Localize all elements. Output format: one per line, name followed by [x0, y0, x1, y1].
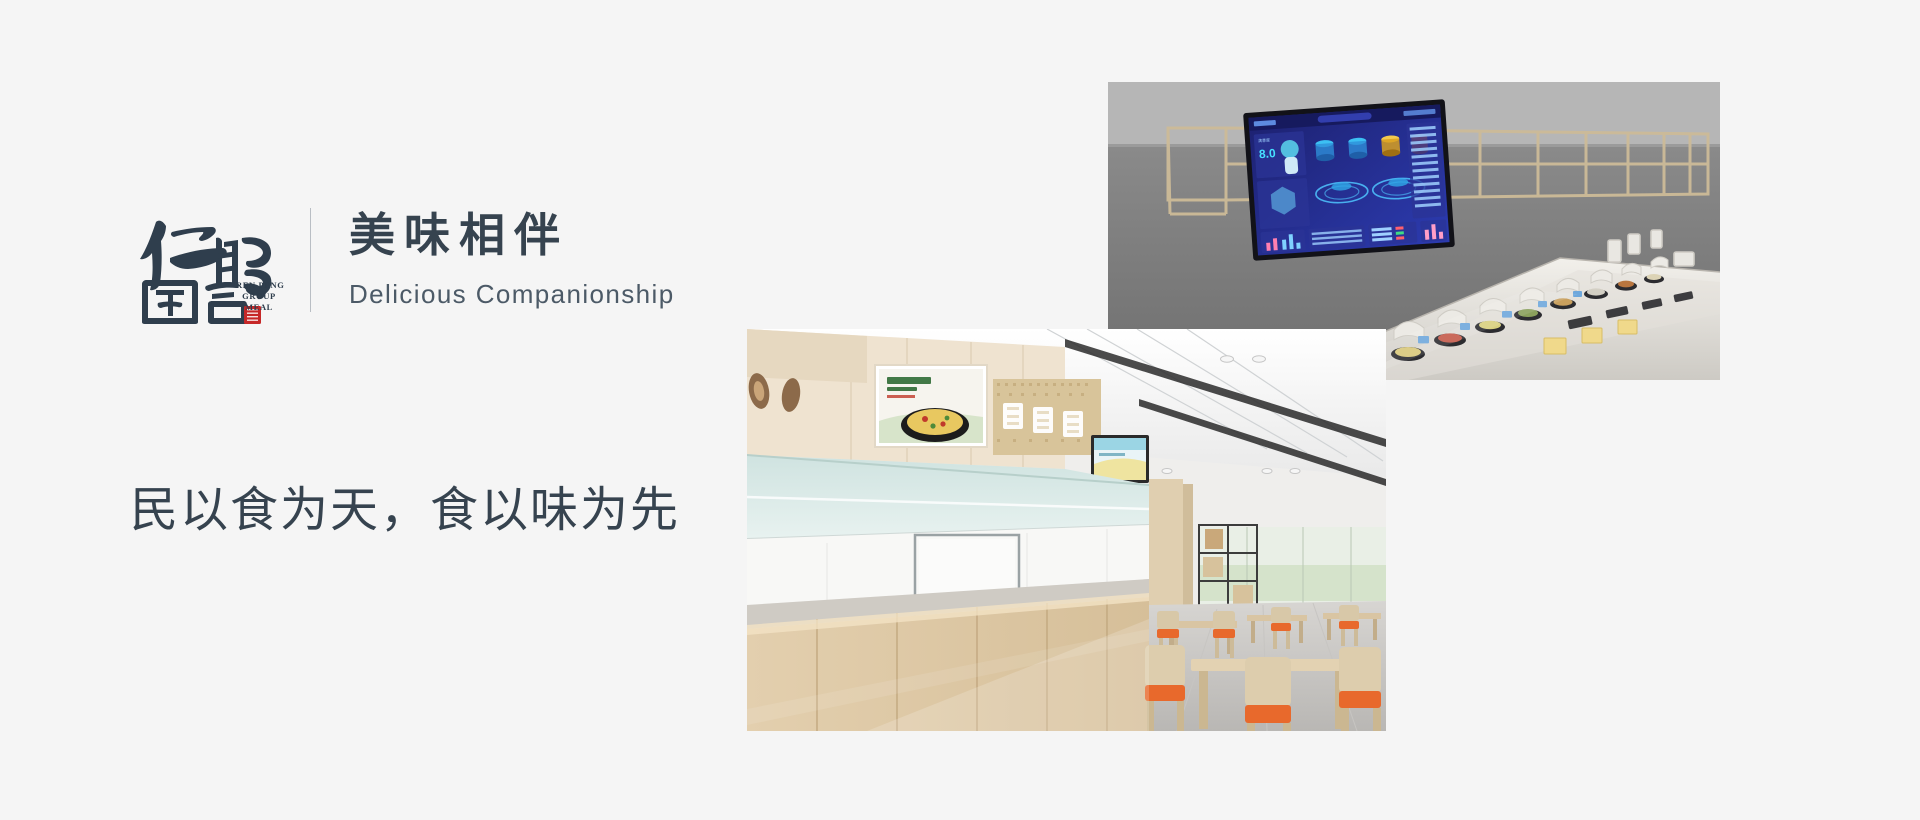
svg-text:满意度: 满意度 [1258, 136, 1270, 143]
canteen-interior-image [747, 329, 1386, 731]
brand-sign [993, 379, 1101, 455]
logo-en-line-1: REN PENG [236, 280, 282, 291]
brand-slogan-block: 美味相伴 Delicious Companionship [349, 210, 675, 310]
svg-text:8.0: 8.0 [1258, 146, 1276, 161]
menu-poster [875, 365, 987, 447]
brand-lockup: REN PENG GROUP MEAL 美味相伴 Delicious Compa… [128, 196, 675, 324]
canteen-illustration [747, 329, 1386, 731]
logo-en-line-2: GROUP [236, 291, 282, 302]
logo-english-lines: REN PENG GROUP MEAL [236, 280, 282, 313]
company-logo: REN PENG GROUP MEAL [128, 196, 276, 324]
hero-banner: REN PENG GROUP MEAL 美味相伴 Delicious Compa… [0, 0, 1920, 820]
dashboard-screen: 满意度 8.0 [1243, 99, 1455, 261]
slogan-english: Delicious Companionship [349, 279, 675, 310]
logo-en-line-3: MEAL [236, 302, 282, 313]
slogan-chinese: 美味相伴 [349, 210, 675, 261]
vertical-divider [310, 208, 311, 312]
page-tagline: 民以食为天，食以味为先 [130, 470, 680, 540]
